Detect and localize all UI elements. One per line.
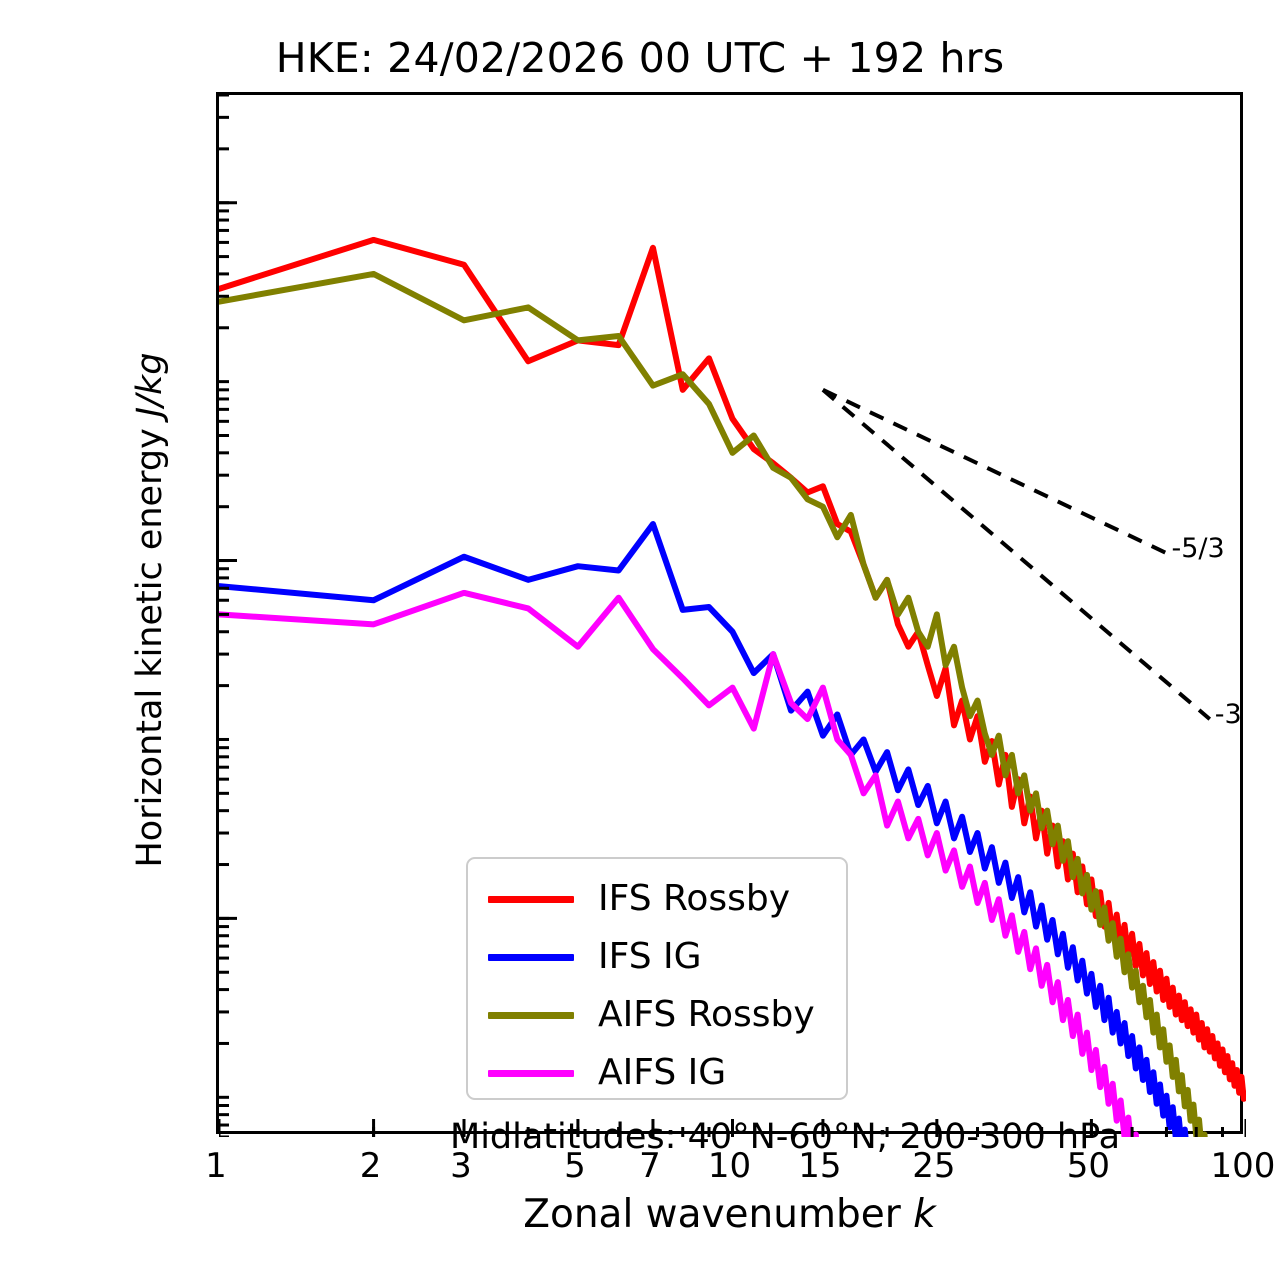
y-axis-label: Horizontal kinetic energy J/kg	[130, 170, 170, 1050]
legend-item-aifs-rossby[interactable]: AIFS Rossby	[468, 985, 850, 1045]
x-tick-label: 7	[639, 1146, 661, 1186]
x-tick-label: 50	[1067, 1146, 1110, 1186]
legend-swatch	[488, 1070, 574, 1077]
slope-label--5-3: -5/3	[1171, 533, 1224, 564]
region-annotation: Midlatitudes: 40°N-60°N; 200-300 hPa	[450, 1117, 1120, 1157]
legend-swatch	[488, 1012, 574, 1019]
slope-line--3	[823, 390, 1210, 719]
x-axis-label-text: Zonal wavenumber	[523, 1192, 913, 1237]
plot-area: IFS RossbyIFS IGAIFS RossbyAIFS IG Midla…	[216, 92, 1243, 1134]
x-tick-label: 100	[1211, 1146, 1276, 1186]
legend-label: AIFS IG	[598, 1055, 726, 1091]
slope-label--3: -3	[1215, 699, 1242, 730]
y-axis-label-text: Horizontal kinetic energy	[130, 417, 170, 867]
legend-label: IFS Rossby	[598, 881, 790, 917]
chart-title: HKE: 24/02/2026 00 UTC + 192 hrs	[0, 34, 1280, 82]
legend-swatch	[488, 954, 574, 961]
legend-label: AIFS Rossby	[598, 997, 815, 1033]
legend-item-ifs-rossby[interactable]: IFS Rossby	[468, 869, 850, 929]
x-tick-label: 3	[450, 1146, 472, 1186]
x-tick-label: 15	[798, 1146, 841, 1186]
legend-item-aifs-ig[interactable]: AIFS IG	[468, 1043, 850, 1103]
legend-swatch	[488, 896, 574, 903]
x-axis-symbol: k	[913, 1192, 936, 1237]
y-axis-units: J/kg	[130, 352, 170, 417]
slope-line--5-3	[823, 390, 1167, 553]
x-tick-label: 25	[912, 1146, 955, 1186]
x-tick-label: 2	[360, 1146, 382, 1186]
x-tick-label: 1	[205, 1146, 227, 1186]
x-tick-label: 10	[708, 1146, 751, 1186]
legend: IFS RossbyIFS IGAIFS RossbyAIFS IG	[466, 857, 848, 1100]
legend-label: IFS IG	[598, 939, 702, 975]
x-axis-label: Zonal wavenumber k	[216, 1192, 1243, 1237]
legend-item-ifs-ig[interactable]: IFS IG	[468, 927, 850, 987]
x-tick-label: 5	[564, 1146, 586, 1186]
